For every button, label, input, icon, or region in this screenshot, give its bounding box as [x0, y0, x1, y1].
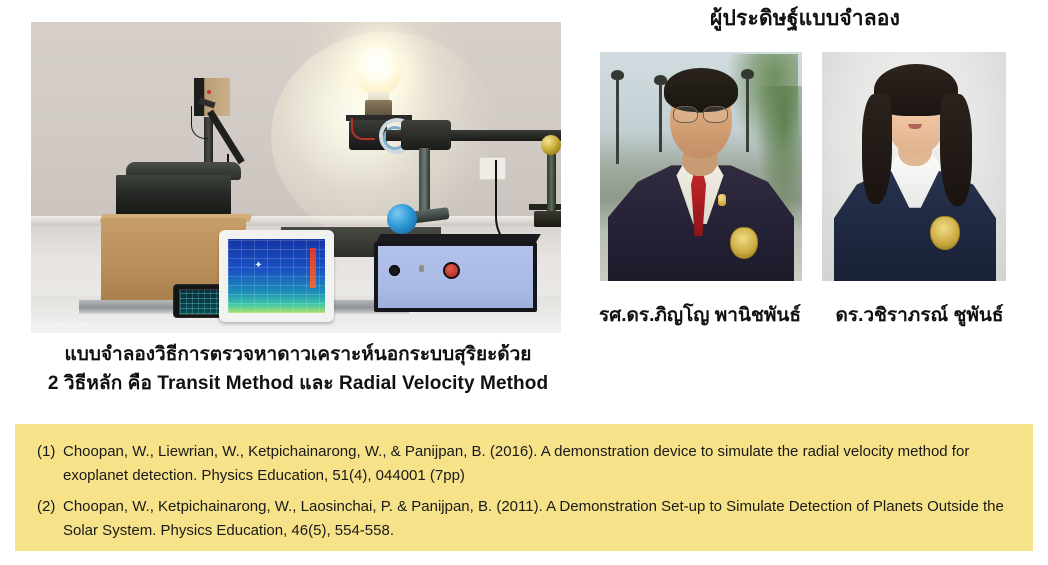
red-wire — [351, 118, 375, 140]
hair-left-side — [862, 94, 892, 204]
photo-caption: แบบจำลองวิธีการตรวจหาดาวเคราะห์นอกระบบสุ… — [8, 340, 588, 399]
hair-right-side — [940, 94, 972, 206]
light-bulb — [356, 44, 401, 96]
references-box: (1) Choopan, W., Liewrian, W., Ketpichai… — [15, 424, 1033, 551]
inventors-heading: ผู้ประดิษฐ์แบบจำลอง — [600, 6, 1010, 32]
counterweight-arm — [529, 204, 561, 210]
glasses-bridge-icon — [696, 112, 703, 113]
control-box-switch — [419, 265, 424, 272]
reference-number: (1) — [37, 440, 63, 489]
portrait-phinyo — [600, 52, 802, 281]
lamp-head-left — [611, 70, 624, 80]
university-crest — [730, 227, 758, 259]
glasses-left-lens-icon — [673, 106, 698, 123]
gold-ball — [541, 135, 561, 155]
portrait-name-wachiraporn: ดร.วชิราภรณ์ ชูพันธ์ — [812, 300, 1027, 330]
counterweight-base — [534, 211, 561, 227]
reference-item: (2) Choopan, W., Ketpichainarong, W., La… — [37, 495, 1011, 544]
spectrogram-marker-icon: ✦ — [254, 261, 263, 270]
sensor-wire-short — [191, 106, 208, 139]
spectrogram-red-band — [310, 248, 316, 288]
control-box-knob — [389, 265, 400, 276]
lamp-post-left — [616, 78, 619, 164]
lamp-post-right — [746, 76, 749, 152]
counterweight-post — [547, 150, 556, 218]
tablet-device: ✦ — [219, 230, 334, 322]
glasses-right-lens-icon — [703, 106, 728, 123]
reference-item: (1) Choopan, W., Liewrian, W., Ketpichai… — [37, 440, 1011, 489]
apparatus-photo: ✦ Dreamstime — [31, 22, 561, 333]
blue-planet-sphere — [387, 204, 417, 234]
control-box-red-button — [443, 262, 460, 279]
bulb-socket — [365, 100, 392, 116]
lapel-pin — [718, 194, 726, 206]
university-crest — [930, 216, 960, 250]
center-stand-column — [419, 148, 430, 218]
portrait-wachiraporn — [822, 52, 1006, 281]
sensor-led — [207, 90, 211, 94]
lamp-post-mid — [659, 82, 662, 152]
oscilloscope-screen — [179, 289, 221, 315]
arm-hub — [401, 120, 451, 150]
reference-text: Choopan, W., Liewrian, W., Ketpichainaro… — [63, 440, 1011, 489]
reference-number: (2) — [37, 495, 63, 544]
portrait-name-phinyo: รศ.ดร.ภิญโญ พานิชพันธ์ — [580, 300, 820, 330]
photo-wall-background — [31, 22, 561, 218]
lamp-head-right — [741, 69, 754, 79]
hair — [664, 68, 738, 112]
tablet-screen: ✦ — [228, 239, 325, 313]
reference-text: Choopan, W., Ketpichainarong, W., Laosin… — [63, 495, 1011, 544]
photo-caption-line-2: 2 วิธีหลัก คือ Transit Method และ Radial… — [8, 369, 588, 398]
photo-caption-line-1: แบบจำลองวิธีการตรวจหาดาวเคราะห์นอกระบบสุ… — [8, 340, 588, 369]
photo-watermark: Dreamstime — [33, 319, 92, 329]
